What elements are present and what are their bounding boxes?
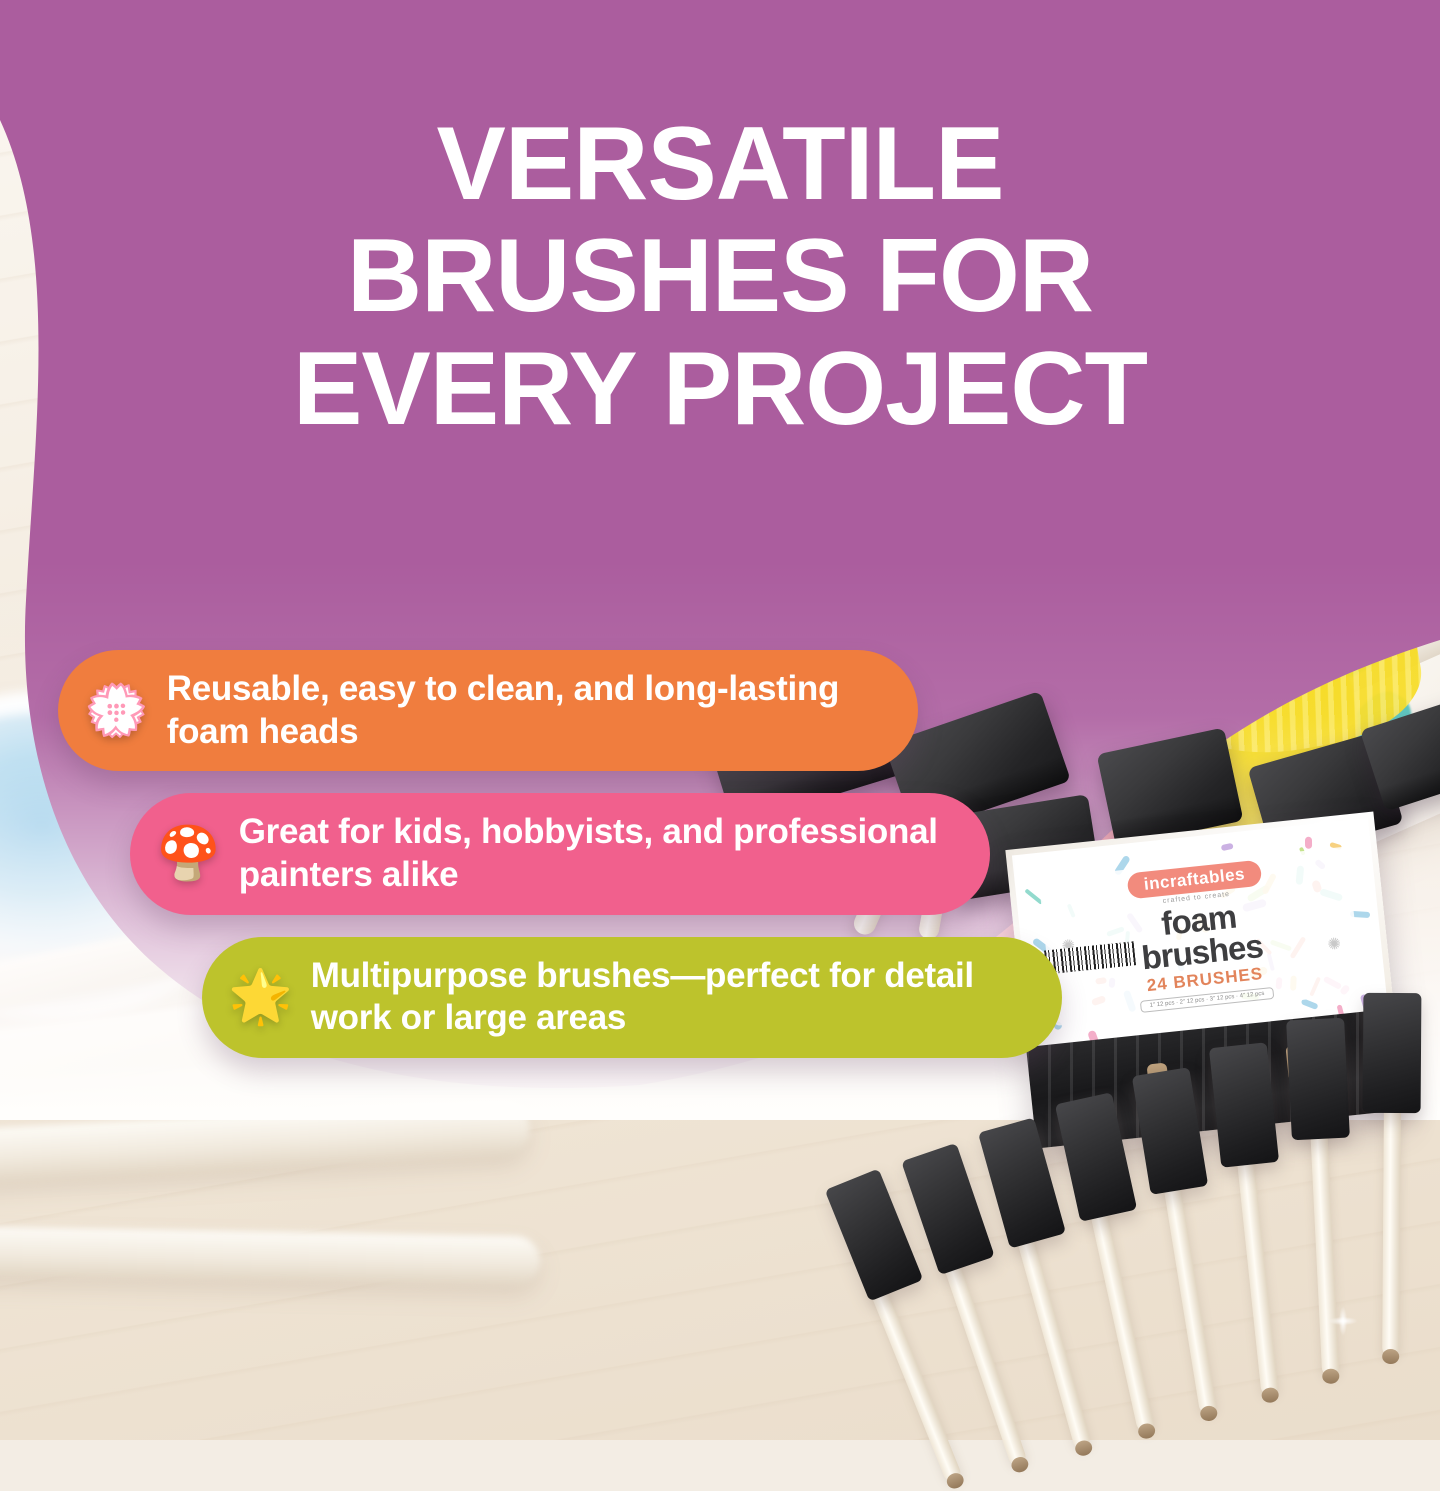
- headline-line-1: VERSATILE: [0, 108, 1440, 220]
- brush-handle: [1382, 1099, 1401, 1356]
- flower-emoji: 💮: [84, 685, 149, 737]
- sparkle-icon: [1322, 1300, 1364, 1342]
- brush-handle-tip: [1382, 1349, 1399, 1364]
- feature-pill-multipurpose: 🌟 Multipurpose brushes—perfect for detai…: [202, 937, 1062, 1058]
- star-emoji: 🌟: [228, 971, 293, 1023]
- page-title: VERSATILE BRUSHES FOR EVERY PROJECT: [0, 108, 1440, 445]
- headline-line-3: EVERY PROJECT: [0, 333, 1440, 445]
- feature-list: 💮 Reusable, easy to clean, and long-last…: [0, 650, 1440, 1080]
- mushroom-emoji: 🍄: [156, 828, 221, 880]
- feature-pill-reusable: 💮 Reusable, easy to clean, and long-last…: [58, 650, 918, 771]
- feature-text: Reusable, easy to clean, and long-lastin…: [167, 668, 878, 753]
- feature-text: Great for kids, hobbyists, and professio…: [239, 811, 950, 896]
- headline-line-2: BRUSHES FOR: [0, 220, 1440, 332]
- feature-pill-audience: 🍄 Great for kids, hobbyists, and profess…: [130, 793, 990, 914]
- feature-text: Multipurpose brushes—perfect for detail …: [311, 955, 1022, 1040]
